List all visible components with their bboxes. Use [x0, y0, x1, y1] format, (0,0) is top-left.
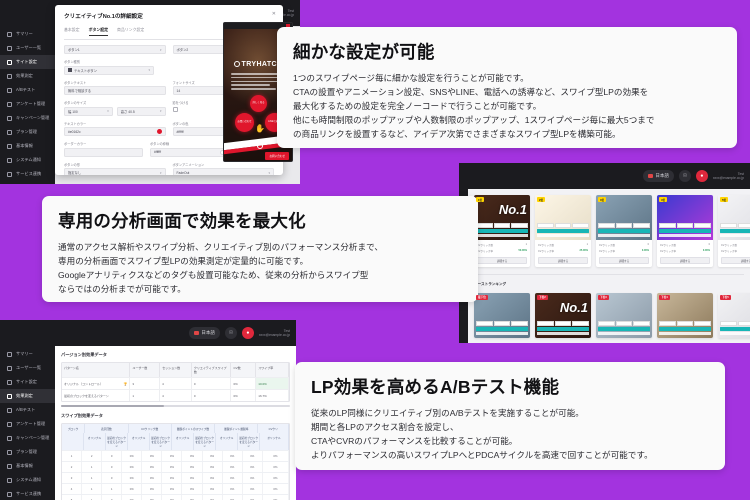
- sidebar-item-label: サマリー: [16, 31, 33, 37]
- tab-basic[interactable]: 基本設定: [64, 27, 80, 36]
- border-color-field[interactable]: ボーダーカラー: [64, 141, 143, 157]
- version-table-title: パージョン別効果データ: [61, 352, 296, 358]
- sidebar-item-users[interactable]: ユーザー一覧: [0, 361, 55, 375]
- sidebar-item-label: サイト設定: [16, 59, 37, 65]
- cell-value: 0: [102, 495, 122, 500]
- account-info: Test xxxx@example.co.jp: [713, 172, 744, 181]
- text-color-field[interactable]: テキストカラー #e0162c: [64, 121, 166, 137]
- cell-value: 0%: [182, 495, 202, 500]
- cell-value: 0%: [142, 451, 162, 461]
- cell-value: 0%: [162, 462, 182, 472]
- app-workarea: パージョン別効果データ パターン名 ユーザー数 セッション数 クリエイティブスワ…: [55, 346, 296, 500]
- table-sub-header-row: オリジナル最初のブロックを変えるパターン オリジナル最初のブロックを変えるパター…: [62, 433, 289, 450]
- ranking-card[interactable]: 3位CVクリック数0CVクリック率0.00%詳細する: [596, 195, 652, 267]
- cell-value: 0: [102, 473, 122, 483]
- table-row[interactable]: 5100%0%0%0%0%0%0%0%: [62, 494, 289, 500]
- sidebar-item-service-link[interactable]: サービス連携: [0, 487, 55, 500]
- feature-card-settings: 細かな設定が可能 1つのスワイプページ毎に細かな設定を行うことが可能です。 CT…: [277, 27, 737, 148]
- cell-value: 0%: [203, 495, 223, 500]
- cell-value: 0%: [162, 473, 182, 483]
- creative-thumbnail: 5位: [718, 195, 750, 240]
- table-group-header-row: ブロック 表示回数 CVクリック数 離脱ポイントのスワイプ数 離脱ポイント離脱率…: [62, 424, 289, 433]
- thumbnail-mini-ui: [537, 321, 589, 336]
- cell-value: 0%: [142, 484, 162, 494]
- button-type-field[interactable]: ボタン種別 テキストボタン: [64, 59, 154, 75]
- cell-value: 0%: [223, 473, 243, 483]
- ranking-card[interactable]: 最下位: [474, 293, 530, 338]
- cell-value: 0%: [263, 473, 289, 483]
- creative-thumbnail: 下位5: [718, 293, 750, 338]
- thumbnail-mini-ui: [720, 223, 750, 238]
- close-icon[interactable]: ✕: [272, 11, 276, 17]
- sidebar-item-site-settings[interactable]: サイト設定: [0, 375, 55, 389]
- col-pattern: パターン名: [62, 363, 130, 377]
- cell-value: 0: [102, 451, 122, 461]
- preview-cta-2[interactable]: お問い合わせ: [235, 113, 254, 132]
- ranking-card[interactable]: 2位CVクリック数1CVクリック率25.00%詳細する: [535, 195, 591, 267]
- sidebar-item-plan[interactable]: プラン管理: [0, 445, 55, 459]
- version-results-table: パターン名 ユーザー数 セッション数 クリエイティブスワイプ数 CV数 スワイプ…: [61, 362, 290, 402]
- cell-value: 0%: [223, 451, 243, 461]
- col-swipes: クリエイティブスワイプ数: [192, 363, 232, 377]
- feature-card-analytics: 専用の分析画面で効果を最大化 通常のアクセス解析やスワイプ分析、クリエイティブ別…: [42, 196, 478, 302]
- rank-badge: 下位2: [537, 295, 548, 300]
- sidebar-item-summary[interactable]: サマリー: [0, 347, 55, 361]
- cell-block: 5: [62, 495, 82, 500]
- users-icon: [7, 46, 12, 51]
- metric-row: CVクリック率0.00%: [721, 248, 750, 254]
- info-icon: [7, 144, 12, 149]
- thumbnail-mini-ui: [720, 321, 750, 336]
- creative-thumbnail: 2位: [535, 195, 591, 240]
- ranking-card[interactable]: 4位CVクリック数0CVクリック率0.00%詳細する: [657, 195, 713, 267]
- field-label: ボタン種別: [64, 59, 154, 64]
- sidebar-item-label: キャンペーン管理: [16, 115, 49, 121]
- table-row[interactable]: オリジナル（コントロール）🏆 3 4 0 0% 10.0%: [62, 377, 289, 389]
- cell-value: 0%: [243, 484, 263, 494]
- megaphone-icon: [7, 116, 12, 121]
- cell-value: 0%: [203, 451, 223, 461]
- rank-badge: 4位: [659, 197, 667, 202]
- slide-canvas: SwipeKit サマリー ユーザー一覧 サイト設定 効果測定 A/Bテスト ア…: [0, 0, 750, 500]
- cell-value: 0%: [122, 451, 142, 461]
- feature-card-abtest: LP効果を高めるA/Bテスト機能 従来のLP同様にクリエイティブ別のA/Bテスト…: [295, 362, 725, 470]
- cell-value: 0%: [243, 473, 263, 483]
- cell-value: 0%: [223, 462, 243, 472]
- cell-value: 0%: [243, 462, 263, 472]
- card-metrics: CVクリック数0CVクリック率0.00%: [718, 240, 750, 257]
- button-1-select[interactable]: ボタン1: [64, 45, 166, 54]
- preview-cta-1[interactable]: 詳しく見る: [250, 95, 267, 112]
- cell-value: 0%: [182, 484, 202, 494]
- cell-value: 0%: [243, 451, 263, 461]
- cell-value: 0%: [122, 473, 142, 483]
- cell-value: 0%: [182, 473, 202, 483]
- cell-block: 2: [62, 462, 82, 472]
- link-icon: [7, 172, 12, 177]
- button-animation-field[interactable]: ボタンアニメーション FadeOut: [173, 162, 275, 176]
- sidebar-item-service-link[interactable]: サービス連携: [0, 167, 55, 181]
- card-icon: [7, 450, 12, 455]
- field-label: ボーダーカラー: [64, 141, 143, 146]
- field-label: ボタンのサイズ: [64, 100, 166, 105]
- globe-icon: [7, 380, 12, 385]
- cell-value: 1: [82, 473, 102, 483]
- field-label: テキストカラー: [64, 121, 166, 126]
- sidebar-item-basic-info[interactable]: 基本情報: [0, 139, 55, 153]
- metric-row: CVクリック率25.00%: [538, 248, 588, 254]
- creative-thumbnail: 4位: [657, 195, 713, 240]
- sidebar-item-basic-info[interactable]: 基本情報: [0, 459, 55, 473]
- card-metrics: CVクリック数1CVクリック率25.00%: [535, 240, 591, 257]
- table-row[interactable]: 最初のブロックを変えるパターン 1 4 0 0% 16.7%: [62, 389, 289, 401]
- thumbnail-mini-ui: [659, 223, 711, 238]
- ranking-card[interactable]: 下位4: [657, 293, 713, 338]
- cell-value: 1: [82, 495, 102, 500]
- group-exit-swipes: 離脱ポイントのスワイプ数: [172, 424, 215, 433]
- notification-bell-button[interactable]: ☉: [225, 327, 237, 339]
- sidebar-item-label: 効果測定: [16, 73, 33, 79]
- worst-ranking-row: 最下位下位2No.1下位3下位4下位5: [468, 287, 750, 338]
- preview-footer-logo-icon: [257, 143, 263, 149]
- metric-row: CVクリック率50.00%: [477, 248, 527, 254]
- sidebar-item-abtest[interactable]: A/Bテスト: [0, 403, 55, 417]
- card-detail-button[interactable]: 詳細する: [599, 257, 649, 264]
- thumbnail-mini-ui: [659, 321, 711, 336]
- field-label: ボタンアニメーション: [173, 162, 275, 167]
- cell-value: 0%: [263, 462, 289, 472]
- tab-button[interactable]: ボタン設定: [89, 27, 108, 36]
- tab-product-link[interactable]: 商品リンク設定: [117, 27, 144, 36]
- ranking-card[interactable]: 下位2No.1: [535, 293, 591, 338]
- ranking-card[interactable]: 下位3: [596, 293, 652, 338]
- metric-row: CVクリック率0.00%: [660, 248, 710, 254]
- cell-block: 3: [62, 473, 82, 483]
- clipboard-icon: [7, 102, 12, 107]
- thumbnail-mini-ui: [476, 321, 528, 336]
- group-exit-rate: 離脱ポイント離脱率: [215, 424, 258, 433]
- page-title: 専用の分析画面で効果を最大化: [58, 208, 462, 233]
- ranking-content: 1位No.1CVクリック数1CVクリック率50.00%詳細する2位CVクリック数…: [468, 189, 750, 343]
- cell-value: 0%: [142, 495, 162, 500]
- avatar[interactable]: ●: [242, 327, 254, 339]
- button-shape-field[interactable]: ボタンの形 指定なし: [64, 162, 166, 176]
- account-info: Test xxxx@example.co.jp: [259, 329, 290, 338]
- ranking-card[interactable]: 下位5: [718, 293, 750, 338]
- link-icon: [7, 492, 12, 497]
- rank-badge: 最下位: [476, 295, 488, 300]
- swipe-table-body: 1200%0%0%0%0%0%0%0%2100%0%0%0%0%0%0%0%31…: [62, 450, 289, 500]
- sidebar-item-label: 基本情報: [16, 143, 33, 149]
- feature-body: 従来のLP同様にクリエイティブ別のA/Bテストを実施することが可能。 期間と各L…: [311, 407, 709, 463]
- rank-badge: 下位4: [659, 295, 670, 300]
- cell-value: 0%: [182, 462, 202, 472]
- color-swatch-red[interactable]: [157, 129, 162, 134]
- swipe-table-title: スワイプ別効果データ: [61, 413, 296, 419]
- sidebar-item-label: プラン管理: [16, 129, 37, 135]
- cell-value: 1: [82, 462, 102, 472]
- rank-badge: 下位5: [720, 295, 731, 300]
- field-label: ボタンの枠線: [150, 141, 229, 146]
- sidebar-item-label: ユーザー一覧: [16, 45, 41, 51]
- sidebar-item-abtest[interactable]: A/Bテスト: [0, 83, 55, 97]
- preview-footer-cta[interactable]: お問い合わせ: [265, 152, 289, 160]
- sidebar-item-summary[interactable]: サマリー: [0, 27, 55, 41]
- group-views: 表示回数: [85, 424, 128, 433]
- cell-value: 0%: [223, 484, 243, 494]
- app-sidebar: SwipeKit サマリー ユーザー一覧 サイト設定 効果測定 A/Bテスト ア…: [0, 320, 55, 500]
- sidebar-item-survey[interactable]: アンケート管理: [0, 417, 55, 431]
- language-selector[interactable]: 日本語: [189, 327, 220, 339]
- metric-row: CVクリック率0.00%: [599, 248, 649, 254]
- info-icon: [7, 464, 12, 469]
- col-users: ユーザー数: [130, 363, 160, 377]
- best-ranking-row: 1位No.1CVクリック数1CVクリック率50.00%詳細する2位CVクリック数…: [468, 189, 750, 267]
- circle-logo-icon: [234, 61, 240, 67]
- sidebar-item-users[interactable]: ユーザー一覧: [0, 41, 55, 55]
- rank-badge: 1位: [476, 197, 484, 202]
- thumbnail-mini-ui: [598, 223, 650, 238]
- col-swipe-rate: スワイプ率: [256, 363, 289, 377]
- flask-icon: [7, 88, 12, 93]
- group-cv-clicks: CVクリック数: [129, 424, 172, 433]
- creative-thumbnail: 1位No.1: [474, 195, 530, 240]
- horizontal-scrollbar[interactable]: [61, 405, 290, 407]
- table-header-row: パターン名 ユーザー数 セッション数 クリエイティブスワイプ数 CV数 スワイプ…: [62, 363, 289, 377]
- cell-value: 0%: [122, 462, 142, 472]
- col-cv: CV数: [231, 363, 256, 377]
- table-row[interactable]: 1200%0%0%0%0%0%0%0%: [62, 450, 289, 461]
- sidebar-item-label: サービス連携: [16, 171, 41, 177]
- field-label: ボタンテキスト: [64, 80, 166, 85]
- page-title: LP効果を高めるA/Bテスト機能: [311, 374, 709, 399]
- table-row[interactable]: 3100%0%0%0%0%0%0%0%: [62, 472, 289, 483]
- thumbnail-headline: No.1: [560, 300, 588, 315]
- trophy-icon: 🏆: [124, 382, 128, 386]
- sidebar-item-campaign[interactable]: キャンペーン管理: [0, 111, 55, 125]
- cell-value: 1: [82, 484, 102, 494]
- button-text-field[interactable]: ボタンテキスト 無料で相談する: [64, 80, 166, 96]
- card-detail-button[interactable]: 詳細する: [477, 257, 527, 264]
- cell-value: 0%: [142, 473, 162, 483]
- cell-value: 0%: [223, 495, 243, 500]
- rank-badge: 2位: [537, 197, 545, 202]
- cell-block: 4: [62, 484, 82, 494]
- col-sessions: セッション数: [160, 363, 192, 377]
- language-selector[interactable]: 日本語: [643, 170, 674, 182]
- sidebar-item-label: A/Bテスト: [16, 87, 35, 93]
- notification-bell-button[interactable]: ☉: [679, 170, 691, 182]
- button-size-field[interactable]: ボタンのサイズ 幅 100 高さ 40.5: [64, 100, 166, 116]
- sidebar-item-site-settings[interactable]: サイト設定: [0, 55, 55, 69]
- thumbnail-headline: No.1: [499, 202, 527, 217]
- screenshot-analytics-tables: SwipeKit サマリー ユーザー一覧 サイト設定 効果測定 A/Bテスト ア…: [0, 320, 296, 500]
- cell-value: 0: [102, 462, 122, 472]
- cell-value: 0%: [203, 462, 223, 472]
- cell-value: 0%: [162, 451, 182, 461]
- cell-value: 0%: [162, 484, 182, 494]
- group-cv-click: CVクリ: [258, 424, 289, 433]
- home-icon: [7, 352, 12, 357]
- modal-title: クリエイティブNo.1の詳細設定: [64, 12, 274, 20]
- cell-value: 0%: [263, 484, 289, 494]
- sidebar-item-system-notice[interactable]: システム通知: [0, 473, 55, 487]
- cell-value: 1: [102, 484, 122, 494]
- creative-thumbnail: 下位2No.1: [535, 293, 591, 338]
- flask-icon: [7, 408, 12, 413]
- creative-thumbnail: 3位: [596, 195, 652, 240]
- screenshot-creative-ranking: 日本語 ☉ ● Test xxxx@example.co.jp 1位No.1CV…: [459, 163, 750, 343]
- cell-value: 0%: [243, 495, 263, 500]
- card-metrics: CVクリック数0CVクリック率0.00%: [657, 240, 713, 257]
- bell-icon: [7, 478, 12, 483]
- card-metrics: CVクリック数1CVクリック率50.00%: [474, 240, 530, 257]
- square-icon: [68, 68, 72, 72]
- sidebar-item-system-notice[interactable]: システム通知: [0, 153, 55, 167]
- sidebar-item-label: アンケート管理: [16, 101, 45, 107]
- sidebar-item-label: システム通知: [16, 157, 41, 163]
- cell-value: 0%: [203, 484, 223, 494]
- ranking-card[interactable]: 1位No.1CVクリック数1CVクリック率50.00%詳細する: [474, 195, 530, 267]
- button-border-field[interactable]: ボタンの枠線 #ffffff: [150, 141, 229, 157]
- thumbnail-mini-ui: [476, 223, 528, 238]
- sidebar-item-campaign[interactable]: キャンペーン管理: [0, 431, 55, 445]
- table-row[interactable]: 2100%0%0%0%0%0%0%0%: [62, 461, 289, 472]
- rank-badge: 3位: [598, 197, 606, 202]
- chart-icon: [7, 74, 12, 79]
- screenshot-creative-settings: SwipeKit サマリー ユーザー一覧 サイト設定 効果測定 A/Bテスト ア…: [0, 0, 300, 184]
- cell-value: 0%: [162, 495, 182, 500]
- cell-value: 0%: [122, 495, 142, 500]
- rank-badge: 5位: [720, 197, 728, 202]
- sidebar-item-analytics[interactable]: 効果測定: [0, 389, 55, 403]
- creative-thumbnail: 下位4: [657, 293, 713, 338]
- hand-cursor-icon: ✋: [255, 124, 265, 133]
- flag-jp-icon: [648, 174, 653, 178]
- cell-value: 2: [82, 451, 102, 461]
- avatar[interactable]: ●: [696, 170, 708, 182]
- feature-body: 通常のアクセス解析やスワイプ分析、クリエイティブ別のパフォーマンス分析まで、 専…: [58, 241, 462, 297]
- app-sidebar: SwipeKit サマリー ユーザー一覧 サイト設定 効果測定 A/Bテスト ア…: [0, 0, 55, 184]
- sidebar-item-analytics[interactable]: 効果測定: [0, 69, 55, 83]
- app-topbar: 日本語 ☉ ● Test xxxx@example.co.jp: [459, 163, 750, 189]
- table-row[interactable]: 4110%0%0%0%0%0%0%0%: [62, 483, 289, 494]
- field-label: ボタンの形: [64, 162, 166, 167]
- sidebar-item-survey[interactable]: アンケート管理: [0, 97, 55, 111]
- card-detail-button[interactable]: 詳細する: [721, 257, 750, 264]
- cell-value: 0%: [203, 473, 223, 483]
- card-detail-button[interactable]: 詳細する: [660, 257, 710, 264]
- creative-thumbnail: 最下位: [474, 293, 530, 338]
- col-block: ブロック: [62, 424, 85, 433]
- card-metrics: CVクリック数0CVクリック率0.00%: [596, 240, 652, 257]
- feature-body: 1つのスワイプページ毎に細かな設定を行うことが可能です。 CTAの設置やアニメー…: [293, 72, 721, 142]
- cell-value: 0%: [122, 484, 142, 494]
- chart-icon: [7, 394, 12, 399]
- globe-icon: [7, 60, 12, 65]
- flag-jp-icon: [194, 331, 199, 335]
- app-topbar: 日本語 ☉ ● Test xxxx@example.co.jp: [0, 320, 296, 346]
- cell-value: 0%: [182, 451, 202, 461]
- sidebar-item-plan[interactable]: プラン管理: [0, 125, 55, 139]
- card-icon: [7, 130, 12, 135]
- ranking-card[interactable]: 5位CVクリック数0CVクリック率0.00%詳細する: [718, 195, 750, 267]
- cell-value: 0%: [263, 451, 289, 461]
- home-icon: [7, 32, 12, 37]
- bell-icon: [7, 158, 12, 163]
- creative-thumbnail: 下位3: [596, 293, 652, 338]
- cell-block: 1: [62, 451, 82, 461]
- cell-value: 0%: [142, 462, 162, 472]
- page-title: 細かな設定が可能: [293, 39, 721, 64]
- shadow-checkbox[interactable]: [173, 107, 178, 112]
- section-divider: [474, 274, 744, 275]
- thumbnail-mini-ui: [598, 321, 650, 336]
- card-detail-button[interactable]: 詳細する: [538, 257, 588, 264]
- users-icon: [7, 366, 12, 371]
- clipboard-icon: [7, 422, 12, 427]
- thumbnail-mini-ui: [537, 223, 589, 238]
- swipe-results-table: ブロック 表示回数 CVクリック数 離脱ポイントのスワイプ数 離脱ポイント離脱率…: [61, 423, 290, 500]
- rank-badge: 下位3: [598, 295, 609, 300]
- megaphone-icon: [7, 436, 12, 441]
- cell-value: 0%: [263, 495, 289, 500]
